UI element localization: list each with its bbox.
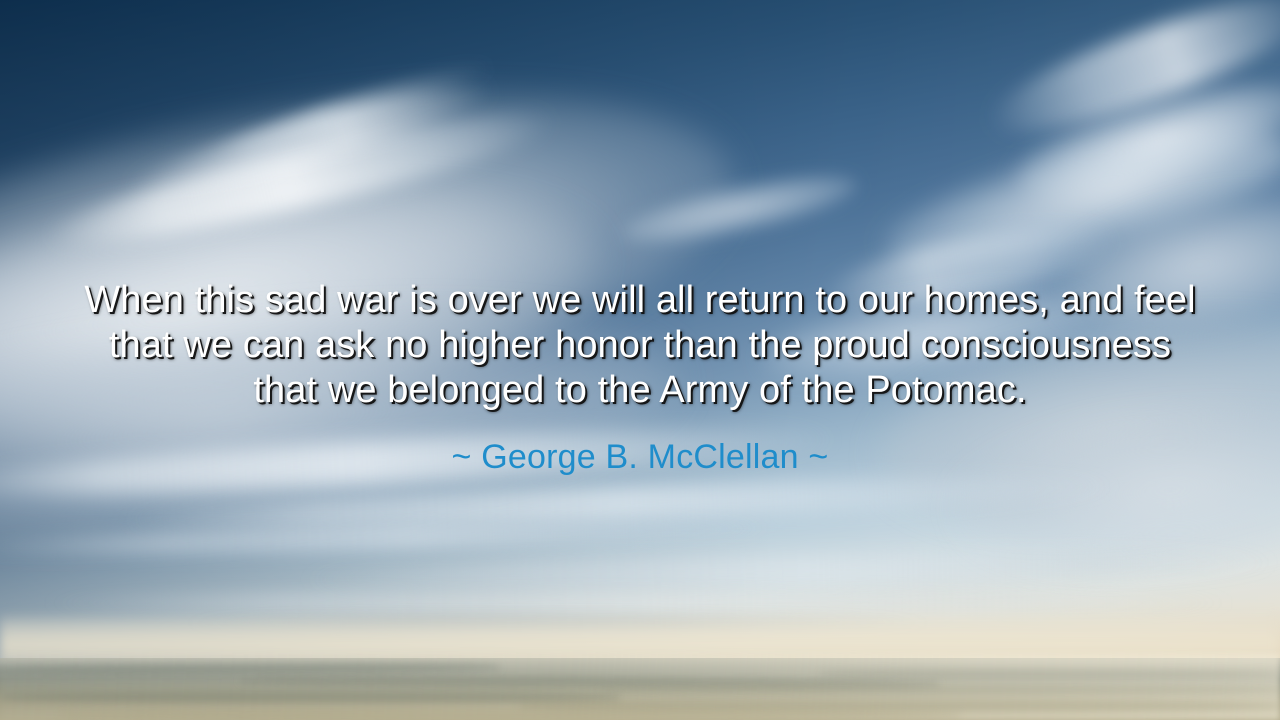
land-texture-stripe <box>820 670 1280 678</box>
quote-block: When this sad war is over we will all re… <box>75 278 1205 413</box>
land-texture-stripe <box>0 692 620 703</box>
quote-wallpaper: When this sad war is over we will all re… <box>0 0 1280 720</box>
quote-attribution: ~ George B. McClellan ~ <box>75 436 1205 478</box>
land-texture-stripe <box>60 710 960 720</box>
quote-text: When this sad war is over we will all re… <box>75 278 1205 413</box>
land-texture-stripe <box>600 686 1280 694</box>
